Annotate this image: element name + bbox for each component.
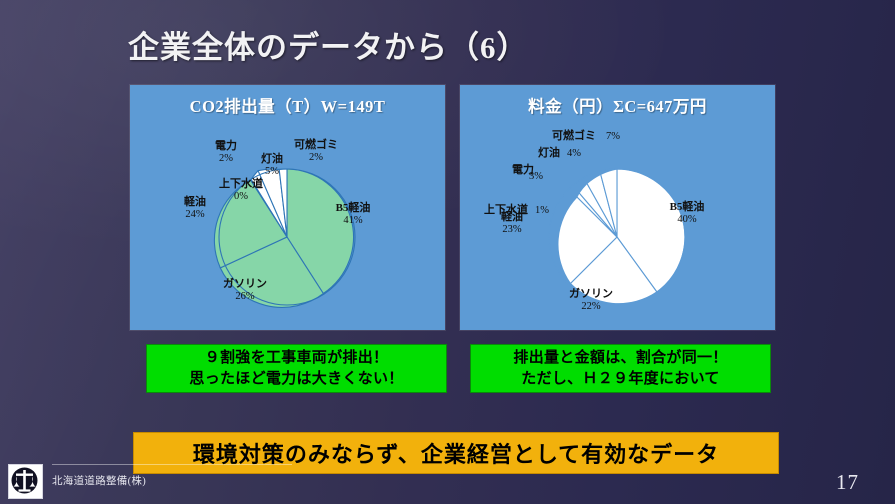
- callout-right-line1: 排出量と金額は、割合が同一！: [513, 348, 727, 368]
- pie-svg-co2: [130, 85, 445, 330]
- callout-box-left: ９割強を工事車両が排出！ 思ったほど電力は大きくない！: [146, 344, 447, 393]
- callout-box-right: 排出量と金額は、割合が同一！ ただし、Ｈ２９年度において: [470, 344, 771, 393]
- company-emblem-icon: [8, 464, 43, 499]
- pie-svg-cost: [460, 85, 775, 330]
- chart-panel-co2: CO2排出量（T）W=149T B5軽油: [130, 85, 445, 330]
- footer-divider: [52, 464, 292, 465]
- pie-chart-co2: B5軽油 41% ガソリン 26% 軽油 24% 上下水道 0% 電力 2% 灯…: [130, 85, 445, 330]
- callout-left-line2: 思ったほど電力は大きくない！: [189, 369, 403, 389]
- summary-banner: 環境対策のみならず、企業経営として有効なデータ: [133, 432, 779, 474]
- page-title: 企業全体のデータから（6）: [128, 22, 529, 67]
- callout-right-line2: ただし、Ｈ２９年度において: [521, 369, 719, 389]
- callout-left-line1: ９割強を工事車両が排出！: [205, 348, 389, 368]
- footer-company-name: 北海道道路整備(株): [52, 473, 146, 488]
- chart-panel-cost: 料金（円）ΣC=647万円 B5軽油 40: [460, 85, 775, 330]
- slide-canvas: 企業全体のデータから（6） CO2排出量（T）W=149T: [0, 0, 895, 504]
- pie-chart-cost: B5軽油 40% ガソリン 22% 軽油 23% 上下水道 1% 電力 3% 灯…: [460, 85, 775, 330]
- page-number: 17: [836, 470, 859, 495]
